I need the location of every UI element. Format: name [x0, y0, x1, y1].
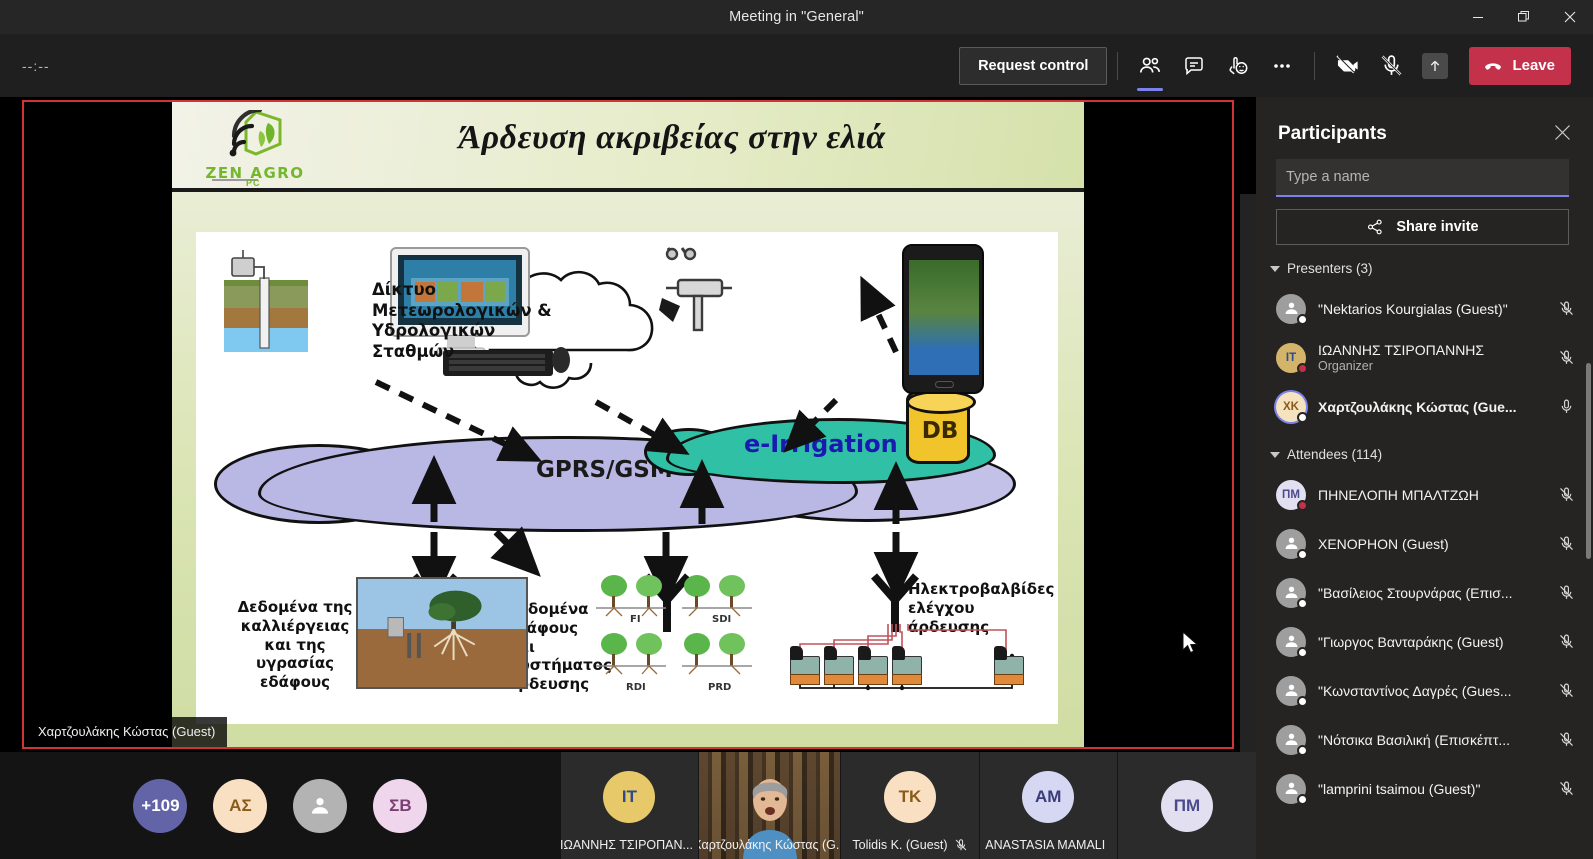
- video-tile-tolidis[interactable]: ΤΚ Tolidis K. (Guest): [841, 752, 979, 859]
- share-icon: [1366, 218, 1384, 236]
- database-label: DB: [910, 418, 970, 444]
- video-tile-baltzoi[interactable]: ΠΜ: [1118, 752, 1256, 859]
- tile-name: ANASTASIA MAMALI: [980, 838, 1117, 852]
- group-label: Attendees (114): [1287, 447, 1382, 462]
- status-badge: [1297, 412, 1308, 423]
- status-badge: [1297, 745, 1308, 756]
- toolbar-actions: Request control: [959, 34, 1593, 97]
- participant-row-xenophon[interactable]: XENOPHON (Guest): [1256, 519, 1593, 568]
- zen-agro-logo: ZEN AGRO PC: [194, 110, 316, 188]
- stage-right-strip: [1240, 194, 1256, 752]
- avatar: ΠΜ: [1161, 780, 1213, 832]
- valve-tag-1: [790, 674, 820, 685]
- valve-head-3: [858, 646, 871, 660]
- participant-info: ΙΩΑΝΝΗΣ ΤΣΙΡΟΠΑΝΝΗΣ Organizer: [1318, 342, 1543, 373]
- valve-head-5: [994, 646, 1007, 660]
- overflow-avatar-3[interactable]: [293, 779, 347, 833]
- valve-tag-5: [994, 674, 1024, 685]
- meeting-stage: ZEN AGRO PC Άρδευση ακριβείας στην ελιά …: [0, 97, 1256, 752]
- group-header-presenters[interactable]: Presenters (3): [1256, 245, 1593, 284]
- avatar: [1276, 578, 1306, 608]
- mic-off-icon[interactable]: [1369, 44, 1413, 88]
- mic-off-icon[interactable]: [1555, 633, 1577, 650]
- mic-off-icon[interactable]: [1555, 349, 1577, 366]
- tile-name: Χαρτζουλάκης Κώστας (G...: [699, 838, 840, 852]
- participant-row-dagres[interactable]: "Κωνσταντίνος Δαγρές (Gues...: [1256, 666, 1593, 715]
- irrigation-trees-graphic: [594, 570, 754, 700]
- participant-name: Χαρτζουλάκης Κώστας (Gue...: [1318, 399, 1543, 415]
- video-tile-tsiropannis[interactable]: ΙΤ ΙΩΑΝΝΗΣ ΤΣΙΡΟΠΑΝ...: [561, 752, 699, 859]
- video-tile-chartzoulakis[interactable]: Χαρτζουλάκης Κώστας (G...: [699, 752, 841, 859]
- avatar: ΙΤ: [603, 771, 655, 823]
- chat-icon[interactable]: [1172, 44, 1216, 88]
- participant-name: XENOPHON (Guest): [1318, 536, 1543, 552]
- zen-agro-mark: [216, 110, 296, 166]
- mic-off-icon[interactable]: [1555, 584, 1577, 601]
- close-panel-icon[interactable]: [1554, 124, 1571, 144]
- phone-home-button: [935, 381, 954, 388]
- slide-title: Άρδευση ακριβείας στην ελιά: [322, 119, 1022, 157]
- mic-off-icon: [954, 838, 968, 852]
- soil-probe-icon: [212, 250, 322, 360]
- participant-info: "Nektarios Kourgialas (Guest)": [1318, 301, 1543, 317]
- overflow-participants-tile[interactable]: +109 ΑΣ ΣΒ: [0, 752, 561, 859]
- avatar: ΤΚ: [884, 771, 936, 823]
- irrigation-systems-grid: FI SDI RDI PRD: [594, 570, 754, 700]
- avatar-initials: ΠΜ: [1282, 489, 1300, 501]
- electrovalve-bank: [784, 610, 1032, 706]
- code-prd: PRD: [708, 682, 731, 693]
- mic-off-icon[interactable]: [1555, 780, 1577, 797]
- participant-name: "Κωνσταντίνος Δαγρές (Gues...: [1318, 683, 1543, 699]
- video-tile-mamali[interactable]: AM ANASTASIA MAMALI: [980, 752, 1118, 859]
- group-label: Presenters (3): [1287, 261, 1373, 276]
- avatar-initials: ΧΚ: [1283, 401, 1299, 413]
- participant-info: ΠΗΝΕΛΟΠΗ ΜΠΑΛΤΖΩΗ: [1318, 487, 1543, 503]
- avatar: [1276, 529, 1306, 559]
- share-invite-button[interactable]: Share invite: [1276, 209, 1569, 245]
- phone-screen: [909, 260, 979, 375]
- participant-name: "Βασίλειος Στουρνάρας (Επισ...: [1318, 585, 1543, 601]
- participant-info: "Βασίλειος Στουρνάρας (Επισ...: [1318, 585, 1543, 601]
- shared-screen-frame[interactable]: ZEN AGRO PC Άρδευση ακριβείας στην ελιά …: [22, 100, 1234, 749]
- weather-network-label: Δίκτυο Μετεωρολογικών & Υδρολογικών Σταθ…: [372, 280, 552, 363]
- minimize-button[interactable]: [1455, 0, 1501, 34]
- valve-tag-4: [892, 674, 922, 685]
- participant-info: "Κωνσταντίνος Δαγρές (Gues...: [1318, 683, 1543, 699]
- avatar: ΠΜ: [1276, 480, 1306, 510]
- participants-header: Participants: [1256, 97, 1593, 159]
- participants-panel: Participants Share invite Presenters (3): [1256, 97, 1593, 859]
- avatar: ΙΤ: [1276, 343, 1306, 373]
- window-title: Meeting in "General": [729, 9, 864, 25]
- meeting-timer: --:--: [22, 58, 50, 74]
- olive-tree-graphic: [358, 579, 526, 687]
- eirrigation-label: e-Irrigation: [744, 430, 898, 458]
- participant-row-tsiropannis[interactable]: ΙΤ ΙΩΑΝΝΗΣ ΤΣΙΡΟΠΑΝΝΗΣ Organizer: [1256, 333, 1593, 382]
- participant-row-kourgialas[interactable]: "Nektarios Kourgialas (Guest)": [1256, 284, 1593, 333]
- participant-info: "Γιωργος Βανταράκης (Guest): [1318, 634, 1543, 650]
- participant-row-chartzoulakis[interactable]: ΧΚ Χαρτζουλάκης Κώστας (Gue...: [1256, 382, 1593, 431]
- valve-head-1: [790, 646, 803, 660]
- status-badge: [1297, 314, 1308, 325]
- valve-tag-2: [824, 674, 854, 685]
- participant-info: XENOPHON (Guest): [1318, 536, 1543, 552]
- status-badge: [1297, 598, 1308, 609]
- valve-head-2: [824, 646, 837, 660]
- valve-tag-3: [858, 674, 888, 685]
- leave-button[interactable]: Leave: [1469, 47, 1571, 85]
- smartphone-icon: [902, 244, 984, 394]
- overflow-count-label: +109: [141, 796, 179, 816]
- video-filmstrip: +109 ΑΣ ΣΒ ΙΤ ΙΩΑΝΝΗΣ ΤΣΙΡΟΠΑΝ...: [0, 752, 1256, 859]
- mic-off-icon[interactable]: [1555, 486, 1577, 503]
- code-sdi: SDI: [712, 614, 731, 625]
- participant-row-stournaras[interactable]: "Βασίλειος Στουρνάρας (Επισ...: [1256, 568, 1593, 617]
- valve-head-4: [892, 646, 905, 660]
- avatar: [1276, 627, 1306, 657]
- avatar: [1276, 294, 1306, 324]
- mic-off-icon[interactable]: [1555, 731, 1577, 748]
- participant-info: "Νότσικα Βασιλική (Επισκέπτ...: [1318, 732, 1543, 748]
- meeting-toolbar: --:-- Request control: [0, 34, 1593, 97]
- share-tray-icon[interactable]: [1413, 44, 1457, 88]
- participant-name: "Nektarios Kourgialas (Guest)": [1318, 301, 1543, 317]
- mic-off-icon[interactable]: [1555, 682, 1577, 699]
- camera-off-icon[interactable]: [1325, 44, 1369, 88]
- participant-row-tsaimou[interactable]: "lamprini tsaimou (Guest)": [1256, 764, 1593, 813]
- status-badge: [1297, 363, 1308, 374]
- participant-name: "lamprini tsaimou (Guest)": [1318, 781, 1543, 797]
- logo-subtext: PC: [246, 178, 261, 188]
- weather-station-icon: [648, 246, 744, 338]
- avatar: [1276, 676, 1306, 706]
- avatar: [1276, 774, 1306, 804]
- participant-row-baltzoi[interactable]: ΠΜ ΠΗΝΕΛΟΠΗ ΜΠΑΛΤΖΩΗ: [1256, 470, 1593, 519]
- toolbar-divider-2: [1314, 52, 1315, 80]
- status-badge: [1297, 647, 1308, 658]
- avatar: AM: [1022, 771, 1074, 823]
- code-rdi: RDI: [626, 682, 646, 693]
- hangup-icon: [1482, 55, 1504, 77]
- participant-info: "lamprini tsaimou (Guest)": [1318, 781, 1543, 797]
- overflow-avatar-2[interactable]: ΑΣ: [213, 779, 267, 833]
- participant-name: "Νότσικα Βασιλική (Επισκέπτ...: [1318, 732, 1543, 748]
- status-badge: [1297, 500, 1308, 511]
- avatar: ΧΚ: [1276, 392, 1306, 422]
- participant-row-notsika[interactable]: "Νότσικα Βασιλική (Επισκέπτ...: [1256, 715, 1593, 764]
- status-badge: [1297, 549, 1308, 560]
- default-person-icon: [307, 793, 333, 819]
- share-invite-label: Share invite: [1396, 219, 1478, 235]
- mic-off-icon[interactable]: [1555, 535, 1577, 552]
- olive-tree-photo: [356, 577, 528, 689]
- status-badge: [1297, 794, 1308, 805]
- participant-name: "Γιωργος Βανταράκης (Guest): [1318, 634, 1543, 650]
- request-control-button[interactable]: Request control: [959, 47, 1107, 85]
- participant-info: Χαρτζουλάκης Κώστας (Gue...: [1318, 399, 1543, 415]
- chevron-down-icon: [1270, 266, 1280, 272]
- restore-button[interactable]: [1501, 0, 1547, 34]
- panel-title: Participants: [1278, 123, 1387, 145]
- more-options-icon[interactable]: [1260, 44, 1304, 88]
- search-input[interactable]: [1276, 159, 1569, 197]
- group-header-attendees[interactable]: Attendees (114): [1256, 431, 1593, 470]
- leave-button-label: Leave: [1512, 57, 1555, 74]
- tile-name: Tolidis K. (Guest): [841, 838, 978, 852]
- status-badge: [1297, 696, 1308, 707]
- mic-off-icon[interactable]: [1555, 300, 1577, 317]
- mouse-cursor: [1182, 631, 1200, 657]
- toolbar-divider-1: [1117, 52, 1118, 80]
- mic-on-icon[interactable]: [1555, 398, 1577, 415]
- chevron-down-icon: [1270, 452, 1280, 458]
- reactions-icon[interactable]: [1216, 44, 1260, 88]
- teams-meeting-window: Meeting in "General" --:-- Request contr…: [0, 0, 1593, 859]
- overflow-count-avatar[interactable]: +109: [133, 779, 187, 833]
- tile-name: ΙΩΑΝΝΗΣ ΤΣΙΡΟΠΑΝ...: [561, 838, 698, 852]
- window-controls: [1455, 0, 1593, 34]
- avatar: [1276, 725, 1306, 755]
- participant-role: Organizer: [1318, 359, 1543, 373]
- participants-icon[interactable]: [1128, 44, 1172, 88]
- participant-row-vantarakis[interactable]: "Γιωργος Βανταράκης (Guest): [1256, 617, 1593, 666]
- panel-scrollbar[interactable]: [1586, 363, 1591, 559]
- crop-data-label: Δεδομένα της καλλιέργειας και της υγρασί…: [232, 598, 358, 692]
- window-titlebar: Meeting in "General": [0, 0, 1593, 34]
- avatar-initials: ΙΤ: [1286, 352, 1296, 364]
- participant-name: ΠΗΝΕΛΟΠΗ ΜΠΑΛΤΖΩΗ: [1318, 487, 1543, 503]
- participant-name: ΙΩΑΝΝΗΣ ΤΣΙΡΟΠΑΝΝΗΣ: [1318, 342, 1543, 358]
- code-fi: FI: [630, 614, 641, 625]
- irrigation-diagram: GPRS/GSM e-Irrigation DB: [196, 232, 1058, 724]
- overflow-avatar-4[interactable]: ΣΒ: [373, 779, 427, 833]
- share-presenter-label: Χαρτζουλάκης Κώστας (Guest): [24, 717, 227, 747]
- close-button[interactable]: [1547, 0, 1593, 34]
- presentation-slide: ZEN AGRO PC Άρδευση ακριβείας στην ελιά …: [172, 102, 1084, 747]
